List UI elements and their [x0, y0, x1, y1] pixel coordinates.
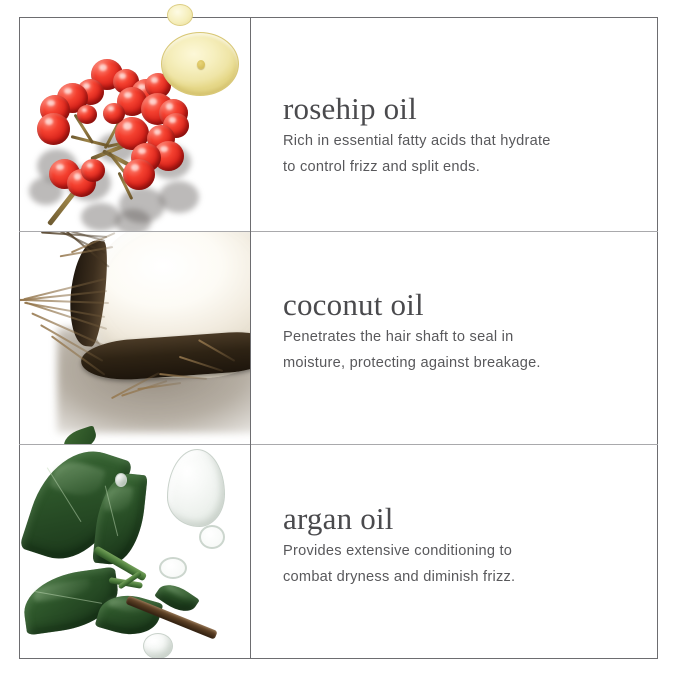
coconut-photo-clip	[19, 232, 250, 444]
coconut-copy-block: coconut oil Penetrates the hair shaft to…	[250, 232, 658, 444]
panel-headline: coconut oil	[283, 289, 424, 320]
panel-rosehip-oil: rosehip oil Rich in essential fatty acid…	[19, 17, 658, 231]
row-divider-1	[19, 231, 658, 232]
rosehip-copy-block: rosehip oil Rich in essential fatty acid…	[250, 17, 658, 231]
panel-argan-oil: argan oil Provides extensive conditionin…	[19, 445, 658, 659]
oil-droplet-large	[161, 32, 239, 96]
rosehip-berry	[77, 105, 97, 124]
clear-oil-droplet-ring	[199, 525, 225, 549]
rosehip-photo-clip	[19, 17, 250, 231]
argan-copy-block: argan oil Provides extensive conditionin…	[250, 445, 658, 659]
body-line-2: moisture, protecting against breakage.	[283, 355, 541, 371]
ingredient-panel-graphic: rosehip oil Rich in essential fatty acid…	[0, 0, 679, 679]
rosehip-berry	[123, 159, 155, 190]
berry-shadow	[159, 181, 199, 213]
body-line-2: to control frizz and split ends.	[283, 159, 480, 175]
clear-oil-droplet-ring	[159, 557, 187, 579]
rosehip-berry	[103, 103, 125, 124]
berry-shadow	[115, 209, 151, 231]
row-divider-2	[19, 444, 658, 445]
panel-headline: rosehip oil	[283, 93, 417, 124]
body-line-2: combat dryness and diminish frizz.	[283, 569, 515, 585]
body-line-1: Provides extensive conditioning to	[283, 543, 512, 559]
clear-oil-droplet-small	[143, 633, 173, 659]
panel-body-copy: Provides extensive conditioning to comba…	[283, 538, 643, 590]
panel-headline: argan oil	[283, 503, 394, 534]
rosehip-berry	[81, 159, 105, 182]
column-divider	[250, 17, 251, 659]
clear-oil-droplet-large	[167, 449, 225, 527]
body-line-1: Penetrates the hair shaft to seal in	[283, 329, 513, 345]
body-line-1: Rich in essential fatty acids that hydra…	[283, 133, 551, 149]
coconut-piece-photo	[19, 232, 250, 444]
rosehip-berry	[37, 113, 70, 145]
panel-body-copy: Rich in essential fatty acids that hydra…	[283, 128, 643, 180]
panel-coconut-oil: coconut oil Penetrates the hair shaft to…	[19, 232, 658, 444]
panel-body-copy: Penetrates the hair shaft to seal in moi…	[283, 324, 643, 376]
oil-droplet-small	[167, 4, 193, 26]
clear-oil-droplet-tiny	[115, 473, 127, 487]
argan-leaves-photo	[19, 445, 250, 659]
rosehip-berries-photo	[19, 17, 250, 231]
argan-photo-clip	[19, 445, 250, 659]
